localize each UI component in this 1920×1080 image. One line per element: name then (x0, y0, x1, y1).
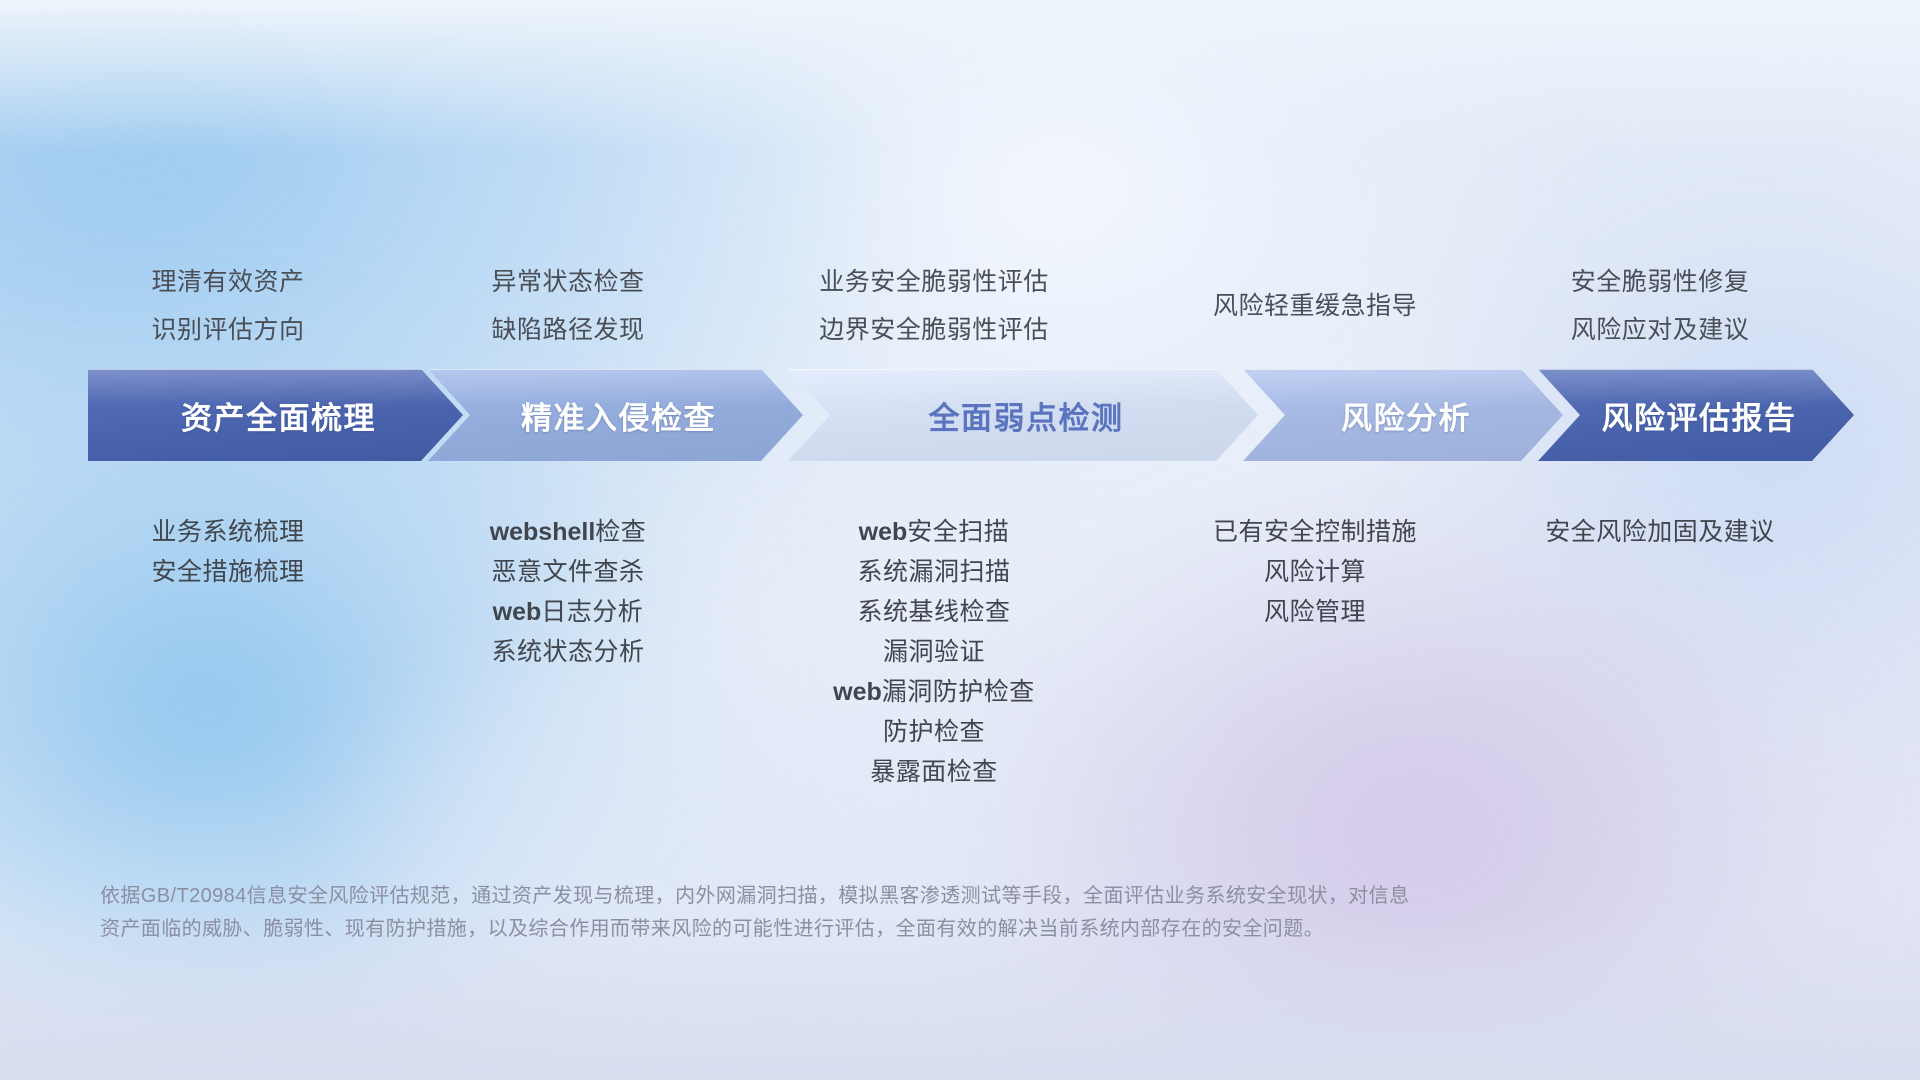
stage-title-risk-report: 风险评估报告 (1596, 393, 1797, 438)
stage-arrow-risk-analysis[interactable]: 风险分析 (1243, 369, 1563, 461)
stage-arrow-band: 资产全面梳理精准入侵检查全面弱点检测风险分析风险评估报告 (88, 369, 1854, 461)
bottom-descriptor-latin: webshell (490, 518, 596, 546)
bottom-descriptor-cjk: 日志分析 (541, 598, 643, 626)
bottom-descriptor-latin: web (493, 598, 542, 626)
footer-line-2: 资产面临的威胁、脆弱性、现有防护措施，以及综合作用而带来风险的可能性进行评估，全… (100, 913, 1630, 946)
bottom-descriptor-item: 风险管理 (1015, 592, 1615, 632)
stage-arrow-intrusion-check[interactable]: 精准入侵检查 (428, 369, 803, 461)
bottom-descriptor-item: 暴露面检查 (634, 752, 1234, 792)
top-descriptor-item: 安全脆弱性修复 (1360, 258, 1920, 306)
footer-line-1: 依据GB/T20984信息安全风险评估规范，通过资产发现与梳理，内外网漏洞扫描，… (100, 880, 1630, 913)
stage-title-asset-inventory: 资产全面梳理 (175, 393, 376, 438)
stage-title-intrusion-check: 精准入侵检查 (515, 393, 716, 438)
bottom-descriptor-item: 漏洞验证 (634, 632, 1234, 672)
stage-arrow-weakness-detection[interactable]: 全面弱点检测 (788, 369, 1258, 461)
stage-title-weakness-detection: 全面弱点检测 (923, 393, 1124, 438)
top-descriptor-item: 风险应对及建议 (1360, 306, 1920, 354)
stage-arrow-risk-report[interactable]: 风险评估报告 (1538, 369, 1854, 461)
bottom-descriptor-group-risk-report: 安全风险加固及建议 (1360, 512, 1920, 552)
bottom-descriptor-latin: web (833, 678, 882, 706)
bottom-descriptor-cjk: 漏洞防护检查 (882, 678, 1035, 706)
bottom-descriptor-item: 风险计算 (1015, 552, 1615, 592)
stage-arrow-asset-inventory[interactable]: 资产全面梳理 (88, 369, 463, 461)
top-descriptor-group-risk-report: 安全脆弱性修复风险应对及建议 (1360, 258, 1920, 354)
stage-title-risk-analysis: 风险分析 (1335, 393, 1471, 438)
bottom-descriptor-latin: web (859, 518, 908, 546)
bottom-descriptor-cjk: 安全扫描 (907, 518, 1009, 546)
bottom-descriptor-item: 安全风险加固及建议 (1360, 512, 1920, 552)
bottom-descriptor-item: 防护检查 (634, 712, 1234, 752)
process-diagram: 理清有效资产识别评估方向异常状态检查缺陷路径发现业务安全脆弱性评估边界安全脆弱性… (0, 0, 1920, 1080)
bottom-descriptor-item: web漏洞防护检查 (634, 672, 1234, 712)
footer-description: 依据GB/T20984信息安全风险评估规范，通过资产发现与梳理，内外网漏洞扫描，… (100, 880, 1630, 946)
